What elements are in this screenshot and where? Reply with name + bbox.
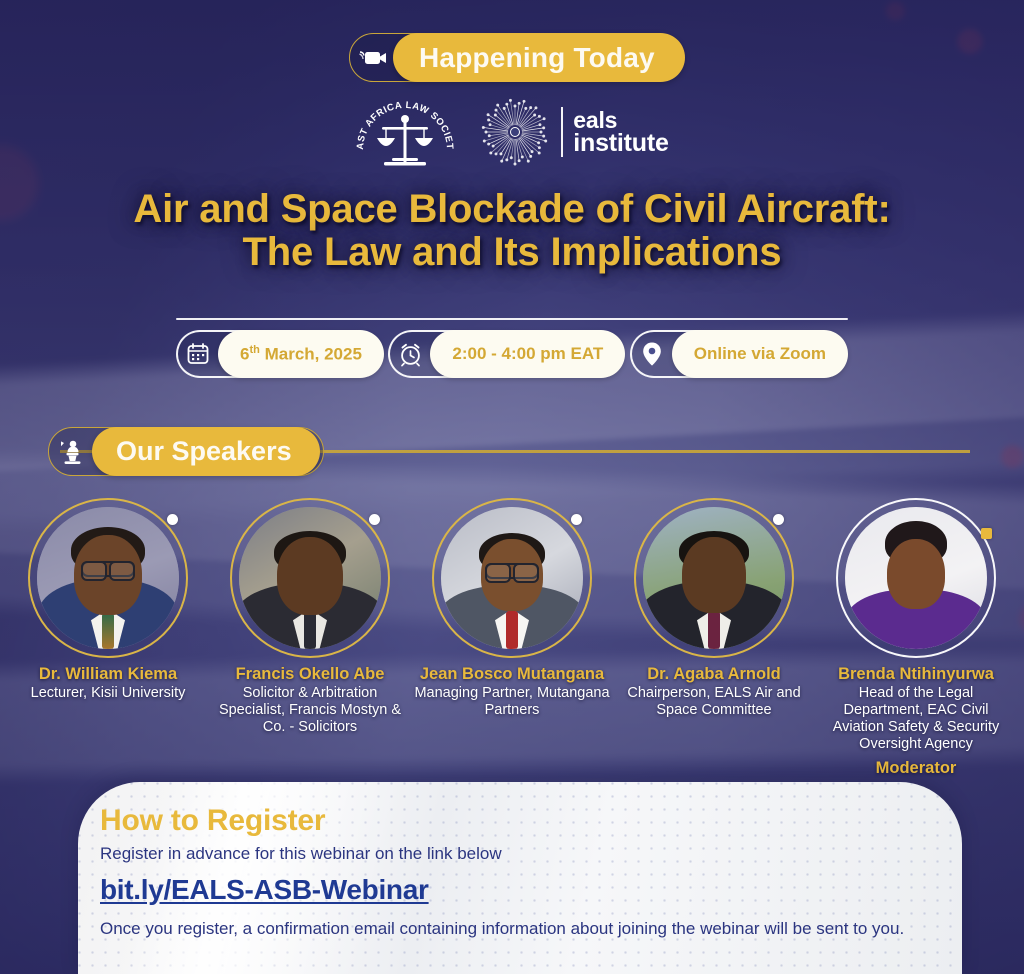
speaker-name: Francis Okello Abe xyxy=(236,665,385,683)
speaker-role: Lecturer, Kisii University xyxy=(31,685,186,702)
podium-speaker-icon xyxy=(48,427,96,476)
happening-today-badge: Happening Today xyxy=(349,33,685,82)
speaker-role: Chairperson, EALS Air and Space Committe… xyxy=(616,685,812,719)
speaker-card: Francis Okello Abe Solicitor & Arbitrati… xyxy=(212,498,408,736)
speaker-name: Brenda Ntihinyurwa xyxy=(838,665,994,683)
speaker-card: Jean Bosco Mutangana Managing Partner, M… xyxy=(414,498,610,719)
speaker-role: Managing Partner, Mutangana Partners xyxy=(414,685,610,719)
institute-name-line2: institute xyxy=(573,131,668,155)
logo-row: EAST AFRICA LAW SOCIETY {} xyxy=(0,92,1024,172)
avatar-accent-dot xyxy=(369,514,380,525)
alarm-clock-icon xyxy=(388,330,432,378)
institute-name-line1: eals xyxy=(573,109,668,131)
speaker-photo xyxy=(239,507,381,649)
speaker-photo xyxy=(643,507,785,649)
avatar xyxy=(432,498,592,658)
speakers-badge-pill: Our Speakers xyxy=(92,427,320,476)
speaker-photo xyxy=(37,507,179,649)
speaker-moderator-tag: Moderator xyxy=(876,759,957,778)
video-camera-icon xyxy=(349,33,397,82)
badge-label: Happening Today xyxy=(419,42,655,74)
speakers-list: Dr. William Kiema Lecturer, Kisii Univer… xyxy=(10,498,1014,778)
calendar-icon xyxy=(176,330,220,378)
scales-of-justice-icon xyxy=(374,114,436,170)
event-date-text: 6th March, 2025 xyxy=(240,344,362,365)
badge-pill: Happening Today xyxy=(393,33,685,82)
avatar-accent-dot xyxy=(981,528,992,539)
speaker-name: Dr. Agaba Arnold xyxy=(647,665,781,683)
register-heading: How to Register xyxy=(100,804,922,838)
event-info-row: 6th March, 2025 2:00 - 4:00 pm EAT xyxy=(176,330,848,378)
speaker-role: Solicitor & Arbitration Specialist, Fran… xyxy=(212,685,408,736)
institute-name: eals institute xyxy=(573,109,668,155)
event-location-text: Online via Zoom xyxy=(694,344,826,364)
avatar xyxy=(28,498,188,658)
event-time-text: 2:00 - 4:00 pm EAT xyxy=(452,344,603,364)
registration-link[interactable]: bit.ly/EALS-ASB-Webinar xyxy=(100,874,429,906)
avatar-accent-dot xyxy=(571,514,582,525)
location-pill-body: Online via Zoom xyxy=(672,330,848,378)
event-date-pill: 6th March, 2025 xyxy=(176,330,384,378)
register-note: Once you register, a confirmation email … xyxy=(100,918,922,941)
avatar xyxy=(634,498,794,658)
eals-institute-logo: {} eals institute xyxy=(479,96,668,168)
speakers-badge-label: Our Speakers xyxy=(116,436,292,467)
webinar-poster: Happening Today EAST AFRICA LAW SOCIETY xyxy=(0,0,1024,974)
speaker-photo xyxy=(845,507,987,649)
east-africa-law-society-logo: EAST AFRICA LAW SOCIETY xyxy=(355,92,455,172)
event-time-pill: 2:00 - 4:00 pm EAT xyxy=(388,330,625,378)
avatar-accent-dot xyxy=(167,514,178,525)
avatar-accent-dot xyxy=(773,514,784,525)
event-location-pill: Online via Zoom xyxy=(630,330,848,378)
speaker-photo xyxy=(441,507,583,649)
title-divider xyxy=(176,318,848,320)
speaker-card: Dr. William Kiema Lecturer, Kisii Univer… xyxy=(10,498,206,702)
date-pill-body: 6th March, 2025 xyxy=(218,330,384,378)
register-subtitle: Register in advance for this webinar on … xyxy=(100,844,922,864)
how-to-register-card: How to Register Register in advance for … xyxy=(78,782,962,974)
starburst-icon: {} xyxy=(479,96,551,168)
poster-title: Air and Space Blockade of Civil Aircraft… xyxy=(120,188,904,274)
speaker-name: Dr. William Kiema xyxy=(39,665,177,683)
time-pill-body: 2:00 - 4:00 pm EAT xyxy=(430,330,625,378)
speaker-card: Brenda Ntihinyurwa Head of the Legal Dep… xyxy=(818,498,1014,778)
avatar xyxy=(836,498,996,658)
location-pin-icon xyxy=(630,330,674,378)
our-speakers-badge: Our Speakers xyxy=(48,427,320,476)
speaker-card: Dr. Agaba Arnold Chairperson, EALS Air a… xyxy=(616,498,812,719)
speaker-name: Jean Bosco Mutangana xyxy=(420,665,604,683)
avatar xyxy=(230,498,390,658)
logo-divider xyxy=(561,107,563,157)
speaker-role: Head of the Legal Department, EAC Civil … xyxy=(818,685,1014,753)
